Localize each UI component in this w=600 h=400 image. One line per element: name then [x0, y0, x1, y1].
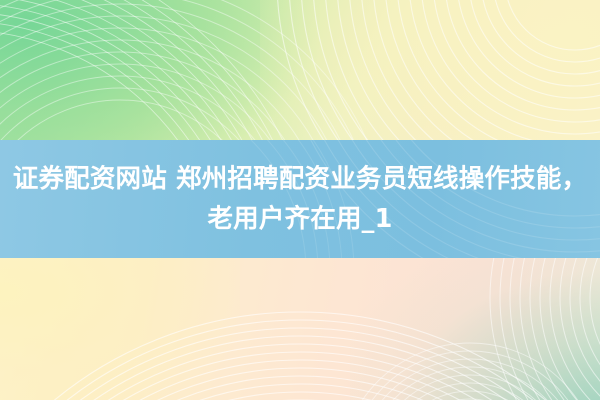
promo-banner: 证券配资网站 郑州招聘配资业务员短线操作技能， 老用户齐在用_1 — [0, 0, 600, 400]
headline-line-1: 证券配资网站 郑州招聘配资业务员短线操作技能， — [13, 159, 587, 199]
bottom-gradient-band — [0, 258, 600, 400]
headline-line-2: 老用户齐在用_1 — [207, 199, 392, 239]
banner-headline: 证券配资网站 郑州招聘配资业务员短线操作技能， 老用户齐在用_1 — [0, 140, 600, 258]
teal-tint-overlay — [350, 258, 600, 400]
headline-band: 证券配资网站 郑州招聘配资业务员短线操作技能， 老用户齐在用_1 — [0, 140, 600, 258]
cream-tint-overlay — [260, 0, 600, 140]
yellow-tint-overlay — [0, 258, 240, 400]
top-gradient-band — [0, 0, 600, 140]
